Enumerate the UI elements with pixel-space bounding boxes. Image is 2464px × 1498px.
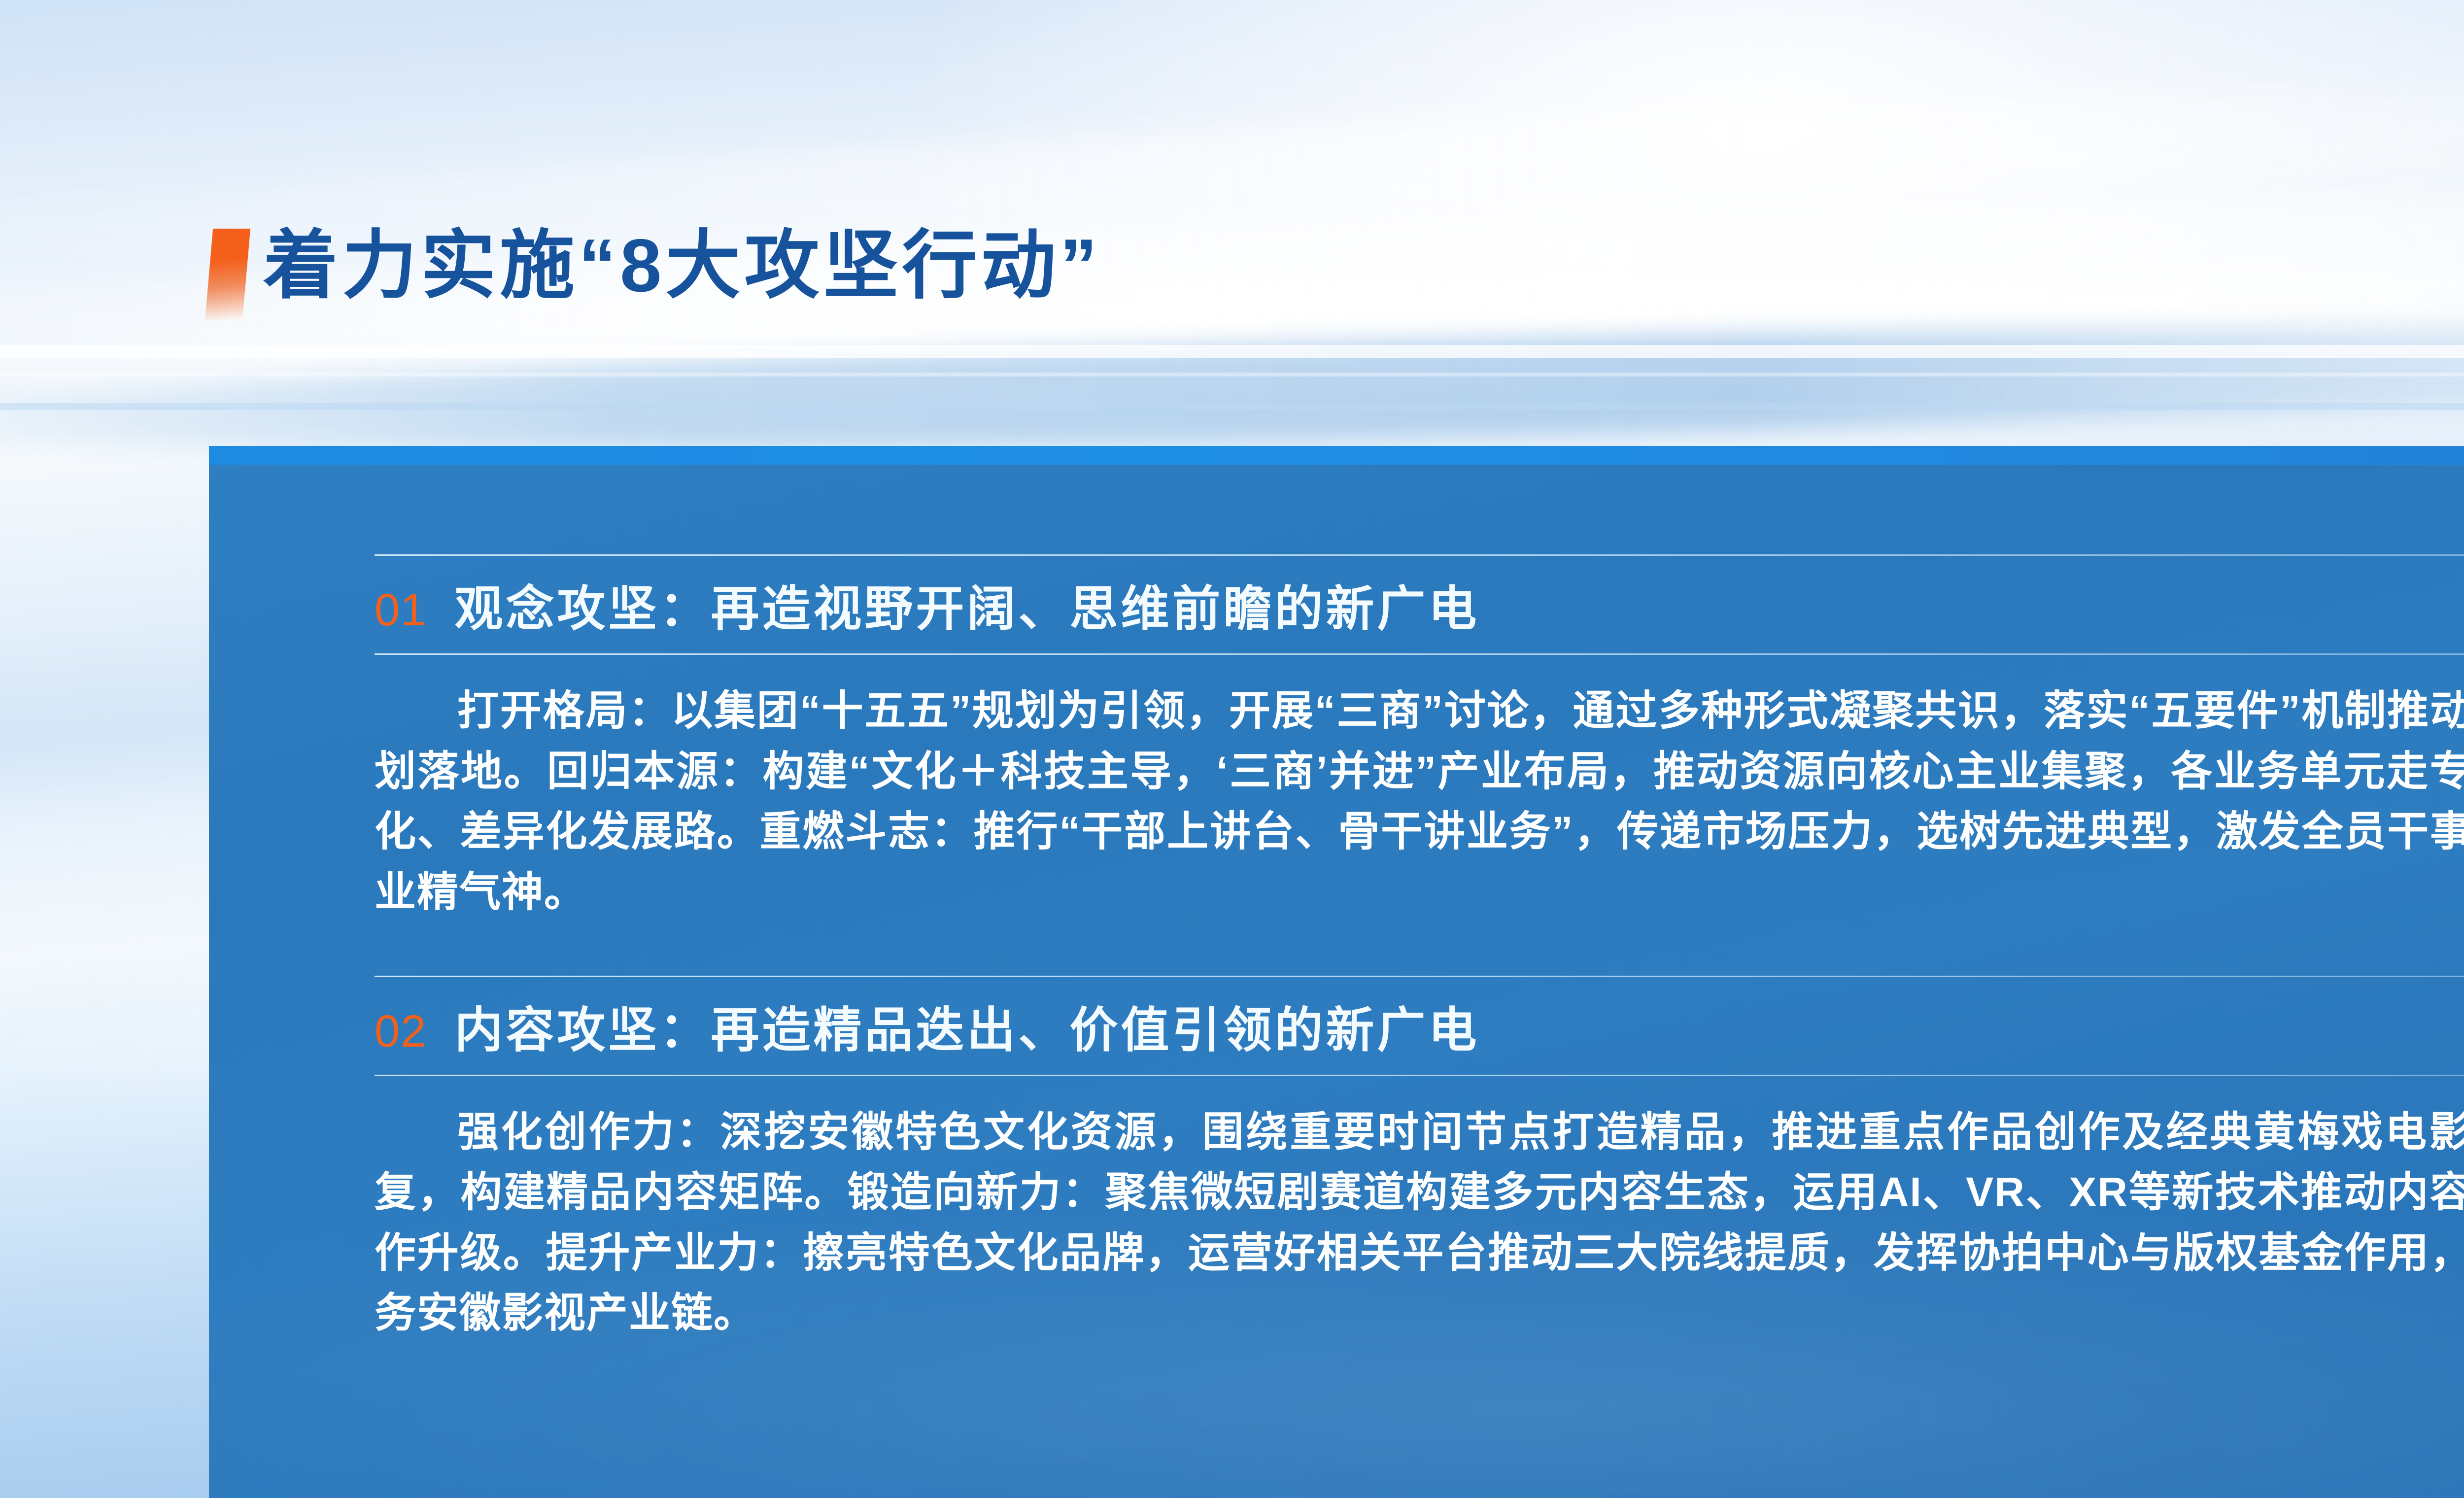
page-title: 着力实施“8大攻坚行动” [263, 222, 1101, 310]
section-02: 02 内容攻坚：再造精品迭出、价值引领的新广电 强化创作力：深挖安徽特色文化资源… [375, 976, 2464, 1358]
section-body: 强化创作力：深挖安徽特色文化资源，围绕重要时间节点打造精品，推进重点作品创作及经… [375, 1076, 2464, 1358]
section-title: 内容攻坚：再造精品迭出、价值引领的新广电 [454, 1006, 1479, 1054]
section-body: 打开格局：以集团“十五五”规划为引领，开展“三商”讨论，通过多种形式凝聚共识，落… [375, 655, 2464, 936]
title-row: 着力实施“8大攻坚行动” [209, 222, 1101, 320]
section-list: 01 观念攻坚：再造视野开阔、思维前瞻的新广电 打开格局：以集团“十五五”规划为… [209, 446, 2464, 1357]
section-number: 02 [375, 1009, 427, 1054]
background-highlight-line [0, 403, 2464, 410]
slide-canvas: 着力实施“8大攻坚行动” 01 观念攻坚：再造视野开阔、思维前瞻的新广电 打开格… [0, 0, 2464, 1498]
section-header: 02 内容攻坚：再造精品迭出、价值引领的新广电 [375, 977, 2464, 1075]
orange-accent-bar-icon [205, 229, 250, 320]
background-highlight-line [0, 345, 2464, 358]
section-01: 01 观念攻坚：再造视野开阔、思维前瞻的新广电 打开格局：以集团“十五五”规划为… [375, 554, 2464, 936]
background-highlight-line [0, 373, 2464, 376]
section-number: 01 [375, 587, 427, 633]
content-panel: 01 观念攻坚：再造视野开阔、思维前瞻的新广电 打开格局：以集团“十五五”规划为… [209, 446, 2464, 1498]
section-title: 观念攻坚：再造视野开阔、思维前瞻的新广电 [454, 584, 1479, 633]
section-header: 01 观念攻坚：再造视野开阔、思维前瞻的新广电 [375, 556, 2464, 653]
